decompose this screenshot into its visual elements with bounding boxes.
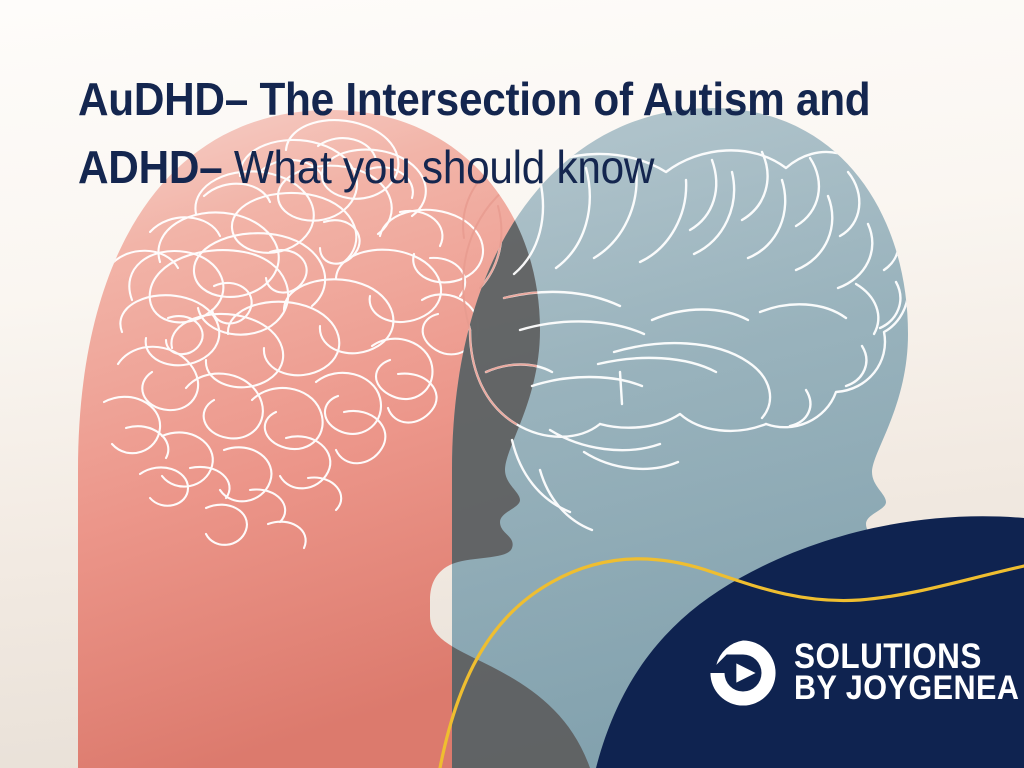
logo-wordmark: SOLUTIONS BY JOYGENEA — [794, 641, 1024, 706]
logo-line-2: BY JOYGENEA — [794, 673, 1019, 705]
audhd-blog-banner: AuDHD– The Intersection of Autism and AD… — [0, 0, 1024, 768]
joygenea-swirl-play-icon — [706, 636, 780, 710]
brand-logo[interactable]: SOLUTIONS BY JOYGENEA — [706, 636, 1024, 710]
